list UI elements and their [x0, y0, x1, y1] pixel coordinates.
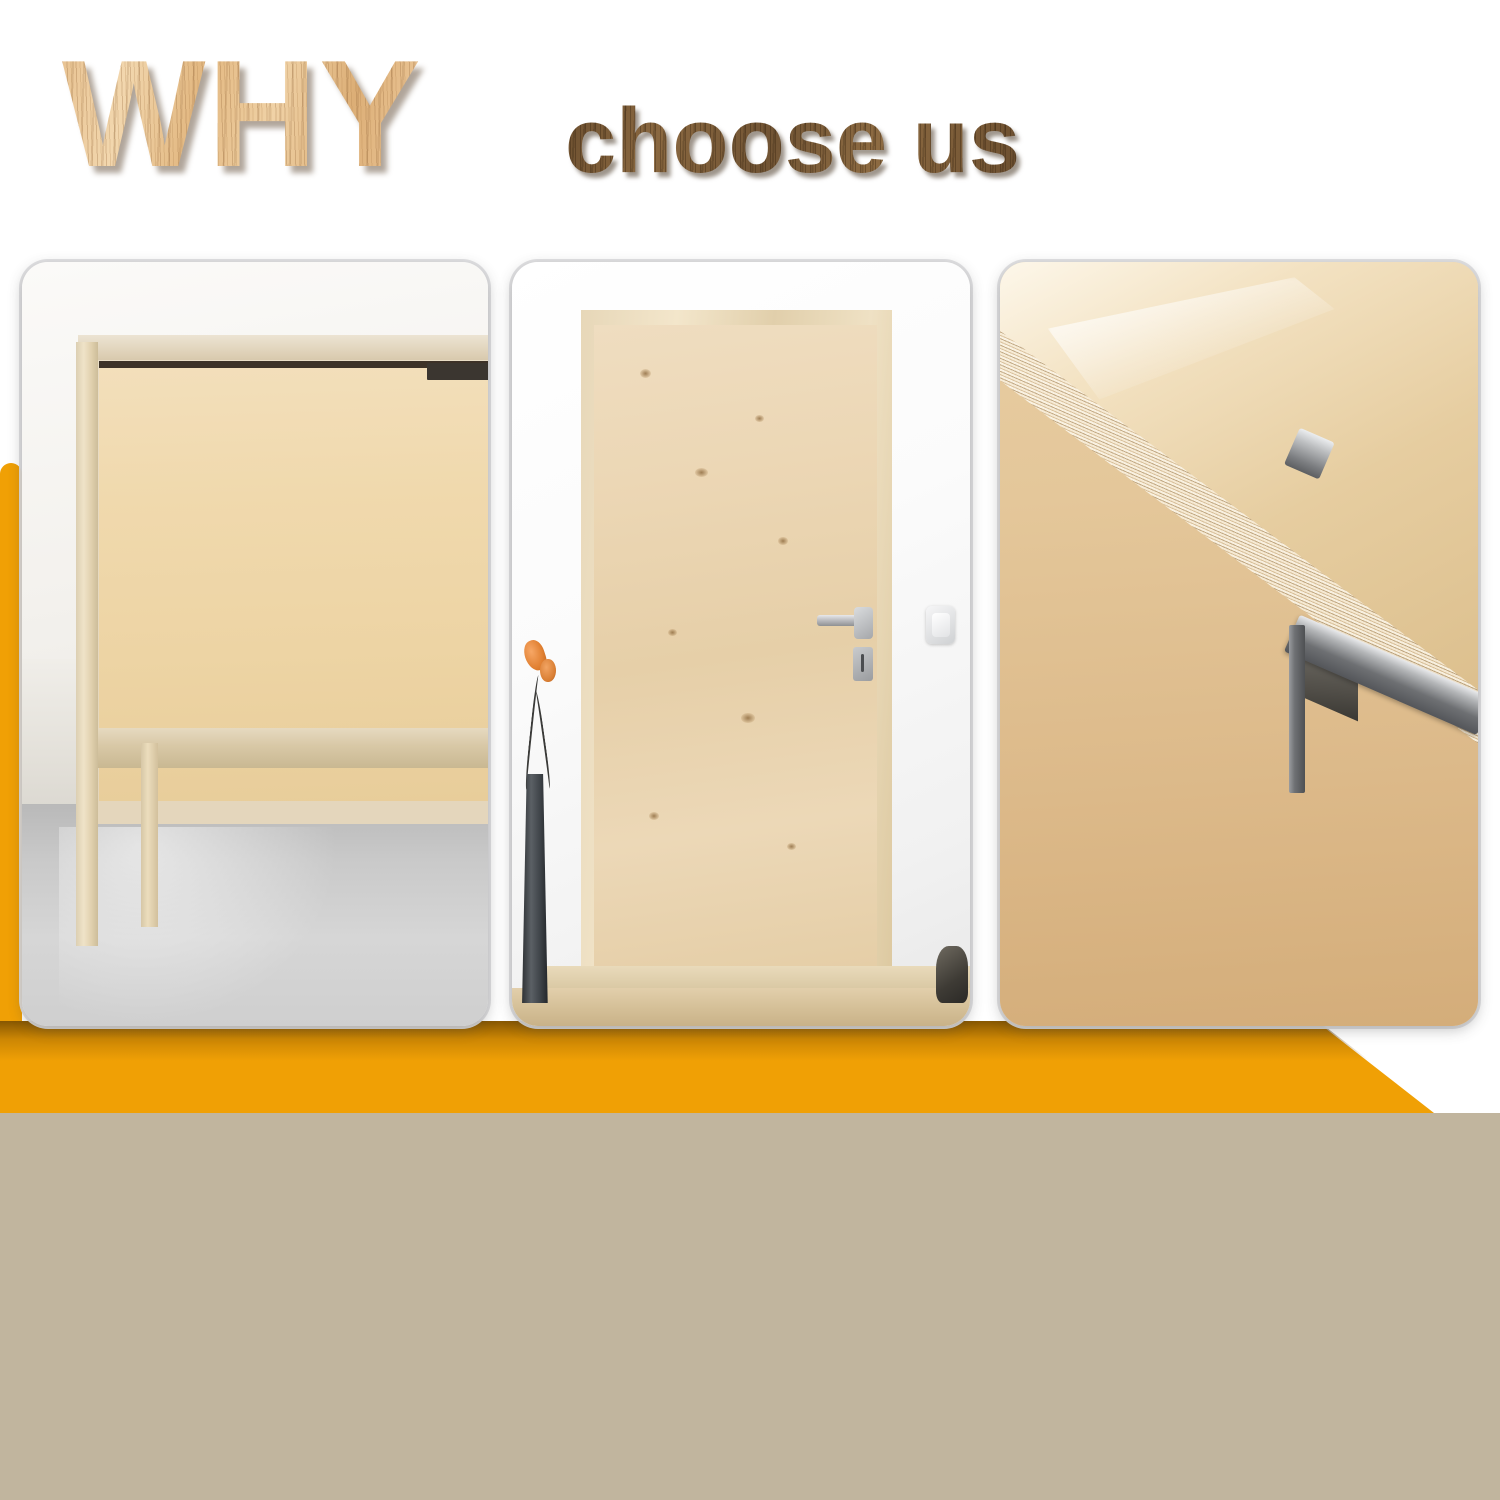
oak-door-photo	[512, 262, 970, 1026]
light-switch	[926, 606, 955, 644]
gallery-panel-nightstand[interactable]	[22, 262, 488, 1026]
floor-reflection	[59, 827, 339, 1026]
dried-flower-icon	[540, 659, 555, 682]
cabinet-base-rail	[78, 728, 488, 768]
gallery-panel-drawer-edge[interactable]	[1000, 262, 1478, 1026]
wood-floor	[512, 988, 970, 1026]
wood-knot-icon	[787, 843, 796, 850]
wood-knot-icon	[741, 713, 755, 724]
gallery-panel-oak-door[interactable]	[512, 262, 970, 1026]
cabinet-leg-right	[141, 743, 158, 926]
features-section: HIGH QUALITY MATERIAL NATURE OAK WOOD WI…	[0, 1113, 1500, 1500]
why-choose-us-infographic: WHY choose us	[0, 0, 1500, 1500]
cabinet-leg-left	[76, 342, 98, 946]
door-leaf	[594, 325, 878, 1013]
drawer-edge-photo	[1000, 262, 1478, 1026]
cabinet-top-slab	[78, 335, 488, 359]
door-handle-rosette	[854, 607, 873, 639]
nightstand-photo	[22, 262, 488, 1026]
photo-gallery	[0, 0, 1500, 1040]
wood-stump-stool	[936, 946, 968, 1003]
drawer-handle-end-cap	[1289, 625, 1305, 793]
door-keyhole-escutcheon	[853, 647, 873, 681]
cabinet-handle	[427, 363, 488, 381]
